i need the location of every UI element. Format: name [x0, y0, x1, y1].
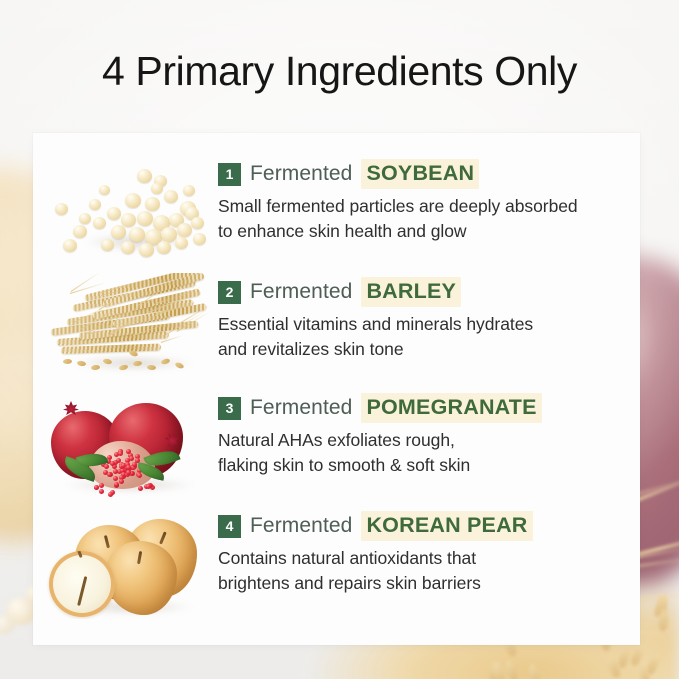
soybean — [137, 169, 152, 183]
barley-grain — [63, 359, 72, 364]
ingredient-description: Small fermented particles are deeply abs… — [218, 194, 640, 245]
pomegranate-photo — [33, 389, 218, 501]
ingredient-number-badge: 2 — [218, 281, 241, 304]
soybean — [93, 217, 106, 229]
ingredient-prefix: Fermented — [250, 514, 352, 538]
soybean — [89, 199, 101, 210]
soybean — [164, 190, 178, 203]
pomegranate-aril — [113, 469, 118, 474]
description-line: Natural AHAs exfoliates rough, — [218, 428, 640, 453]
ingredient-text: 2 Fermented BARLEY Essential vitamins an… — [218, 273, 640, 363]
ingredient-headline: 2 Fermented BARLEY — [218, 277, 640, 307]
ingredient-prefix: Fermented — [250, 396, 352, 420]
ingredient-text: 1 Fermented SOYBEAN Small fermented part… — [218, 155, 640, 245]
ingredient-text: 4 Fermented KOREAN PEAR Contains natural… — [218, 507, 640, 597]
ingredient-description: Essential vitamins and minerals hydrates… — [218, 312, 640, 363]
pomegranate-aril — [113, 476, 118, 481]
soybean — [139, 243, 154, 257]
ingredient-name: POMEGRANATE — [361, 393, 541, 423]
soybean — [151, 183, 163, 194]
ingredient-description: Natural AHAs exfoliates rough, flaking s… — [218, 428, 640, 479]
soybean — [129, 227, 145, 242]
list-item: 1 Fermented SOYBEAN Small fermented part… — [33, 155, 640, 273]
description-line: Contains natural antioxidants that — [218, 546, 640, 571]
list-item: 4 Fermented KOREAN PEAR Contains natural… — [33, 507, 640, 625]
soybean — [177, 223, 192, 237]
soybean — [63, 239, 77, 252]
ingredient-text: 3 Fermented POMEGRANATE Natural AHAs exf… — [218, 389, 640, 479]
pomegranate-aril — [104, 464, 109, 469]
list-item: 2 Fermented BARLEY Essential vitamins an… — [33, 273, 640, 391]
description-line: and revitalizes skin tone — [218, 337, 640, 362]
soybean — [137, 211, 153, 226]
pomegranate-aril — [126, 465, 131, 470]
soybean — [175, 237, 188, 249]
soybean — [79, 213, 91, 224]
description-line: flaking skin to smooth & soft skin — [218, 453, 640, 478]
ingredient-headline: 1 Fermented SOYBEAN — [218, 159, 640, 189]
ingredient-name: KOREAN PEAR — [361, 511, 532, 541]
pomegranate-aril — [137, 473, 142, 478]
soybean — [125, 193, 141, 208]
soybean — [183, 185, 195, 196]
ingredient-number-badge: 1 — [218, 163, 241, 186]
soybean — [145, 197, 160, 211]
barley-ear — [61, 344, 161, 354]
soybean — [73, 225, 87, 238]
pomegranate-aril — [119, 479, 124, 484]
pomegranate-aril — [99, 483, 104, 488]
pomegranate-aril — [99, 489, 104, 494]
ingredient-number-badge: 4 — [218, 515, 241, 538]
description-line: brightens and repairs skin barriers — [218, 571, 640, 596]
korean-pear-photo — [33, 507, 218, 619]
soybeans-photo — [33, 155, 218, 267]
list-item: 3 Fermented POMEGRANATE Natural AHAs exf… — [33, 389, 640, 507]
korean-pear-half — [49, 551, 115, 617]
pomegranate-aril — [118, 451, 123, 456]
barley-stalks-photo — [33, 273, 218, 385]
pomegranate-aril — [108, 492, 113, 497]
ingredients-card: 1 Fermented SOYBEAN Small fermented part… — [33, 133, 640, 645]
ingredient-number-badge: 3 — [218, 397, 241, 420]
pear-stem — [74, 551, 82, 558]
pomegranate-aril — [126, 470, 131, 475]
ingredients-infographic: 4 Primary Ingredients Only 1 Fermented S… — [0, 0, 679, 679]
page-title: 4 Primary Ingredients Only — [0, 48, 679, 95]
pomegranate-aril — [114, 482, 119, 487]
soybean — [99, 185, 110, 195]
soybean — [107, 207, 121, 220]
ingredient-headline: 3 Fermented POMEGRANATE — [218, 393, 640, 423]
ingredient-description: Contains natural antioxidants that brigh… — [218, 546, 640, 597]
description-line: Essential vitamins and minerals hydrates — [218, 312, 640, 337]
soybean — [191, 217, 204, 229]
description-line: Small fermented particles are deeply abs… — [218, 194, 640, 219]
pear-core — [77, 576, 87, 606]
pomegranate-aril — [110, 461, 115, 466]
ingredient-name: BARLEY — [361, 277, 461, 307]
soybean — [101, 239, 114, 251]
pomegranate-aril — [138, 486, 143, 491]
soybean — [111, 225, 126, 239]
ingredient-prefix: Fermented — [250, 162, 352, 186]
ingredient-name: SOYBEAN — [361, 159, 479, 189]
description-line: to enhance skin health and glow — [218, 219, 640, 244]
soybean — [193, 233, 206, 245]
soybean — [121, 241, 135, 254]
ingredient-headline: 4 Fermented KOREAN PEAR — [218, 511, 640, 541]
soybean — [157, 241, 171, 254]
ingredient-prefix: Fermented — [250, 280, 352, 304]
ingredient-list: 1 Fermented SOYBEAN Small fermented part… — [33, 133, 640, 645]
soybean — [55, 203, 68, 215]
soybean — [121, 213, 136, 227]
